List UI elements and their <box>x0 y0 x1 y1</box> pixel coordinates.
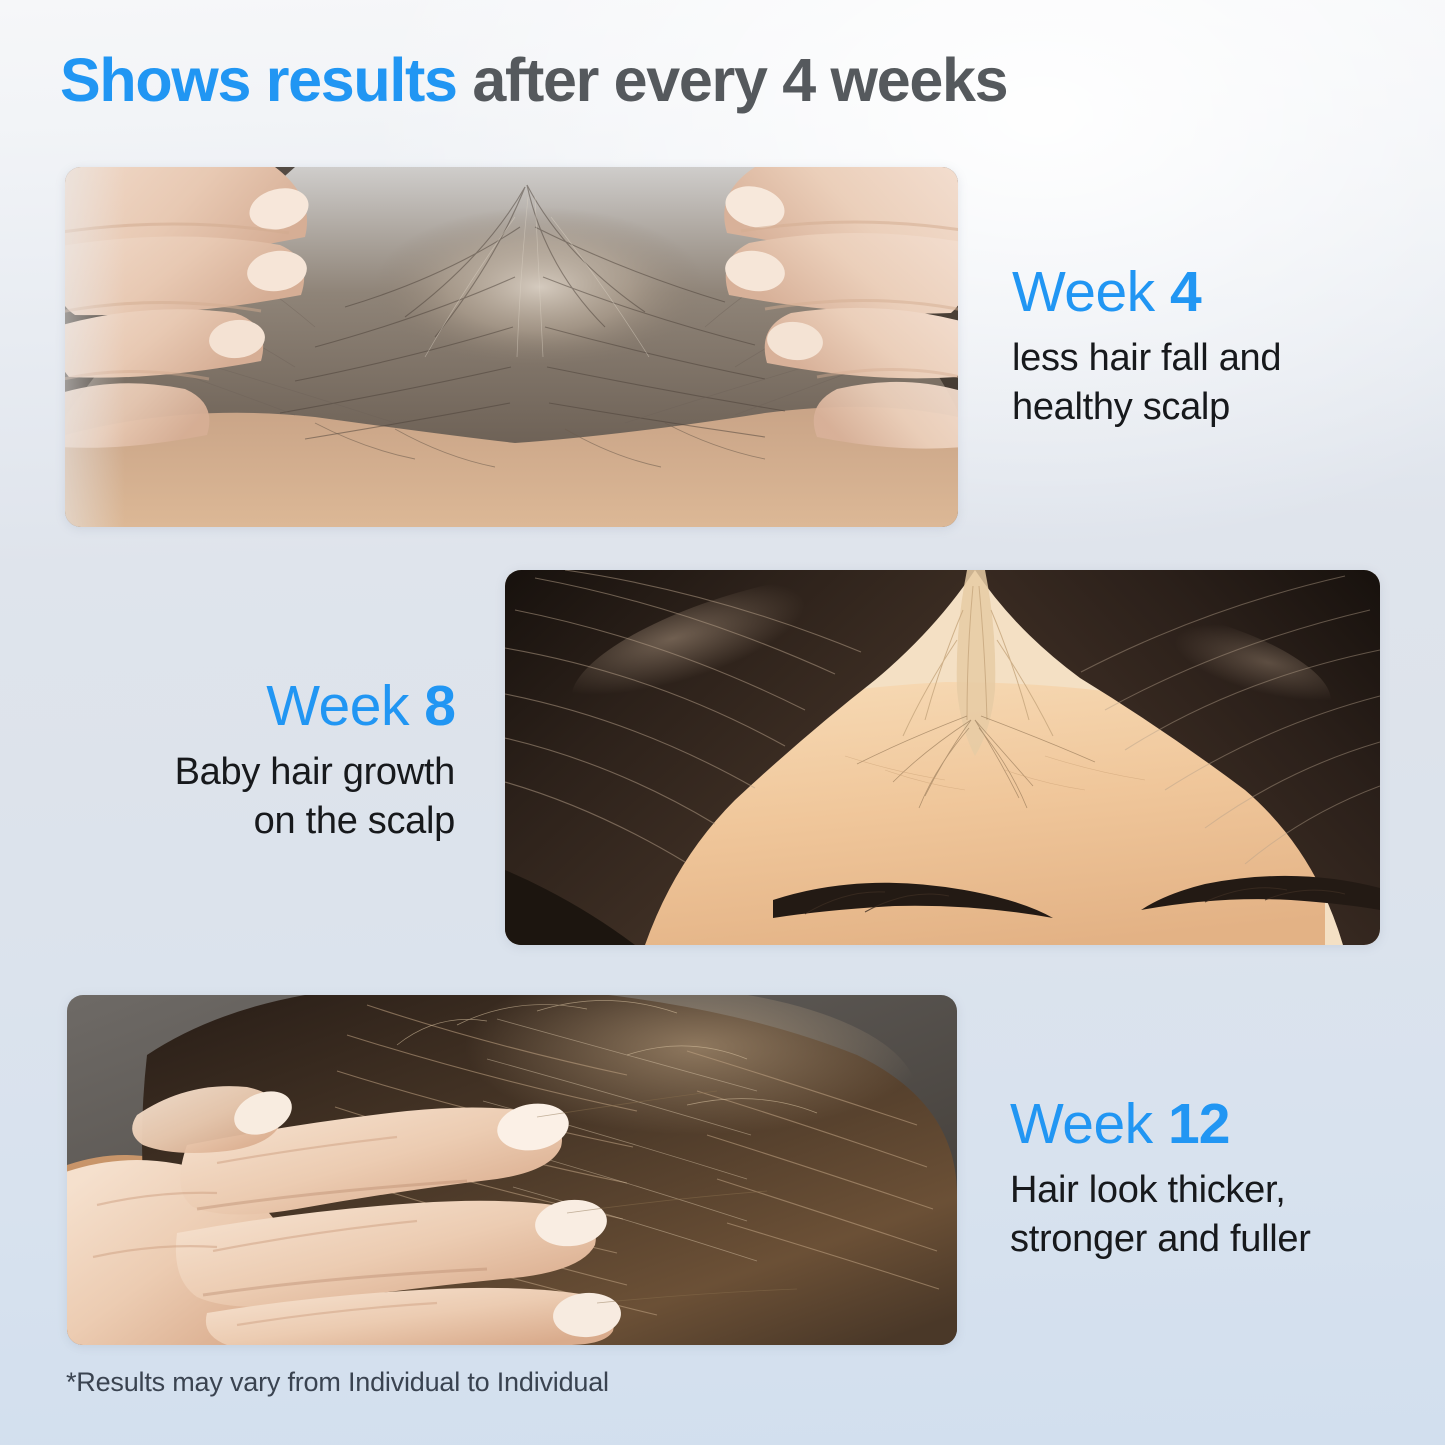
week-heading-12: Week 12 <box>1010 1094 1430 1154</box>
caption-week4: Week 4 less hair fall and healthy scalp <box>1012 262 1412 431</box>
page-title: Shows results after every 4 weeks <box>60 48 1007 112</box>
disclaimer-footnote: *Results may vary from Individual to Ind… <box>66 1367 609 1398</box>
week-description-4: less hair fall and healthy scalp <box>1012 334 1412 431</box>
caption-week8: Week 8 Baby hair growth on the scalp <box>120 676 455 845</box>
poster-root: Shows results after every 4 weeks <box>0 0 1445 1445</box>
week-number-4: 4 <box>1170 260 1201 324</box>
week-description-12: Hair look thicker, stronger and fuller <box>1010 1166 1430 1263</box>
headline-rest: after every 4 weeks <box>457 46 1008 114</box>
week-number-12: 12 <box>1168 1092 1229 1156</box>
week-word-4: Week <box>1012 260 1170 324</box>
photo-week8-illustration <box>505 570 1380 945</box>
week-word-8: Week <box>266 674 424 738</box>
photo-week12 <box>67 995 957 1345</box>
caption-week12: Week 12 Hair look thicker, stronger and … <box>1010 1094 1430 1263</box>
photo-week4 <box>65 167 958 527</box>
photo-week8 <box>505 570 1380 945</box>
week-word-12: Week <box>1010 1092 1168 1156</box>
week-description-8: Baby hair growth on the scalp <box>120 748 455 845</box>
week-heading-8: Week 8 <box>120 676 455 736</box>
headline-highlight: Shows results <box>60 46 457 114</box>
week-number-8: 8 <box>424 674 455 738</box>
photo-week12-illustration <box>67 995 957 1345</box>
week-heading-4: Week 4 <box>1012 262 1412 322</box>
photo-week4-illustration <box>65 167 958 527</box>
